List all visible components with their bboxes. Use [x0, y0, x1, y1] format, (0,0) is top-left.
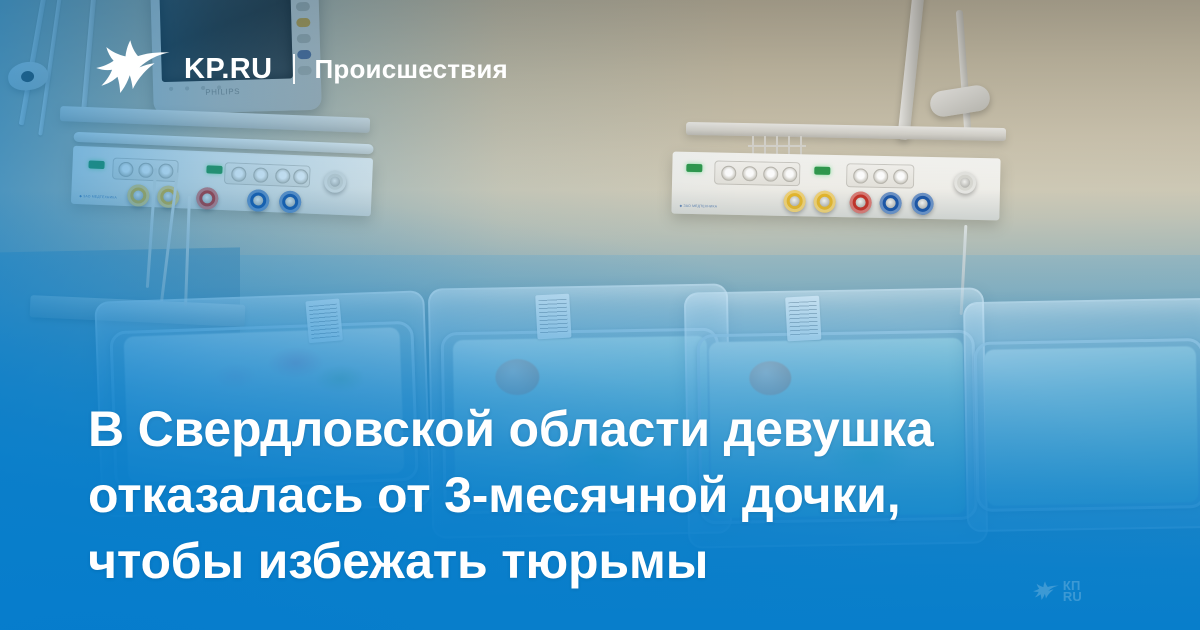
headline-line-1: В Свердловской области девушка [88, 396, 1108, 462]
headline-line-2: отказалась от 3-месячной дочки, [88, 462, 1108, 528]
rubric-label[interactable]: Происшествия [315, 56, 508, 82]
header-divider [293, 54, 295, 84]
news-share-card: PHILIPS [0, 0, 1200, 630]
brand-header: KP.RU Происшествия [96, 40, 508, 98]
page-title: В Свердловской области девушка отказалас… [88, 396, 1108, 594]
kp-swallow-bird-icon[interactable] [96, 40, 170, 98]
headline-line-3: чтобы избежать тюрьмы [88, 528, 1108, 594]
brand-name[interactable]: KP.RU [184, 55, 273, 84]
